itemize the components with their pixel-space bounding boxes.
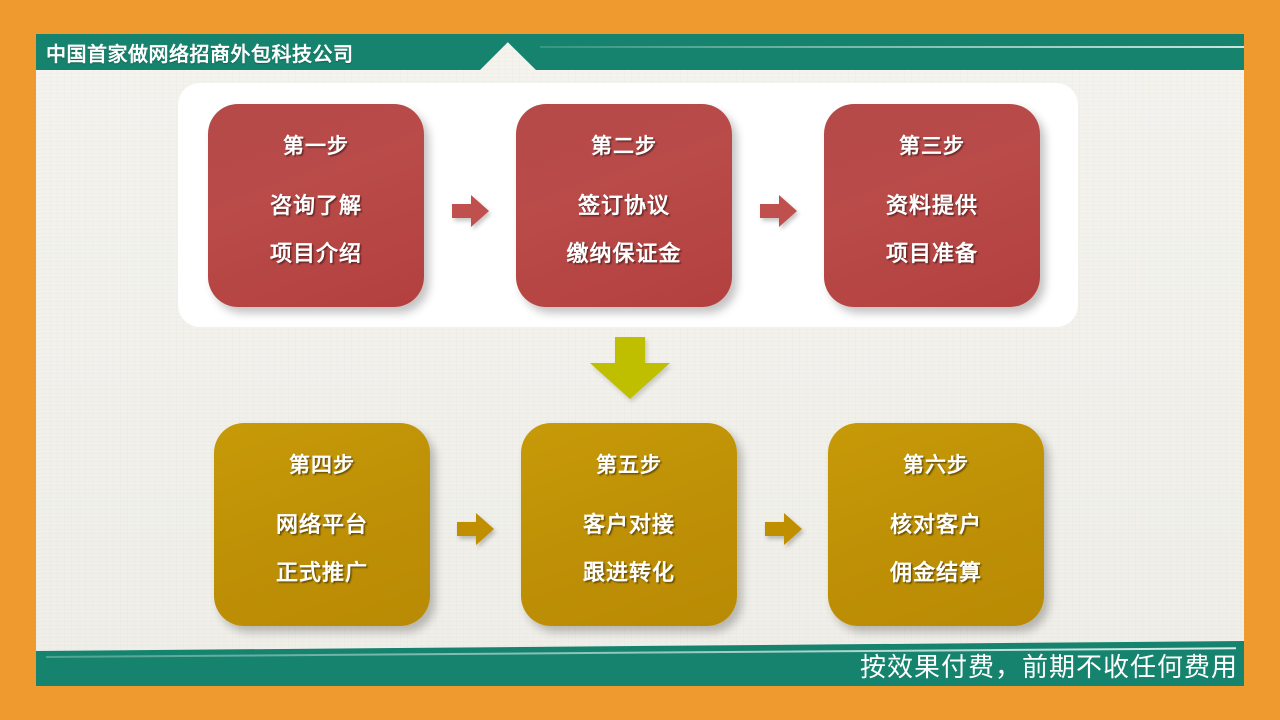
step-card-4[interactable]: 第四步 网络平台 正式推广: [214, 423, 430, 626]
step-card-3-line2: 项目准备: [886, 236, 978, 268]
slide-root: 中国首家做网络招商外包科技公司 第一步 咨询了解 项目介绍 第二步 签订协议 缴…: [0, 0, 1280, 720]
step-card-6-title: 第六步: [903, 449, 969, 479]
step-card-1-title: 第一步: [283, 130, 349, 160]
step-card-6-body: 核对客户 佣金结算: [890, 507, 982, 587]
arrow-right-icon: [765, 512, 803, 546]
step-card-2-title: 第二步: [591, 130, 657, 160]
step-card-4-line1: 网络平台: [276, 507, 368, 539]
step-card-2-line2: 缴纳保证金: [566, 236, 681, 268]
step-card-4-body: 网络平台 正式推广: [276, 507, 368, 587]
step-card-3[interactable]: 第三步 资料提供 项目准备: [824, 104, 1040, 307]
footer-note: 按效果付费，前期不收任何费用: [860, 646, 1238, 684]
step-card-1-line2: 项目介绍: [270, 236, 362, 268]
step-card-3-body: 资料提供 项目准备: [886, 188, 978, 268]
step-card-5-body: 客户对接 跟进转化: [583, 507, 675, 587]
step-card-6[interactable]: 第六步 核对客户 佣金结算: [828, 423, 1044, 626]
step-card-3-title: 第三步: [899, 130, 965, 160]
arrow-right-icon: [457, 512, 495, 546]
step-card-1-line1: 咨询了解: [270, 188, 362, 220]
step-card-5-line1: 客户对接: [583, 507, 675, 539]
step-card-1[interactable]: 第一步 咨询了解 项目介绍: [208, 104, 424, 307]
arrow-right-icon: [760, 194, 798, 228]
step-card-2-body: 签订协议 缴纳保证金: [566, 188, 681, 268]
arrow-right-icon: [452, 194, 490, 228]
page-title: 中国首家做网络招商外包科技公司: [46, 34, 354, 70]
step-card-5-line2: 跟进转化: [583, 555, 675, 587]
step-card-4-title: 第四步: [289, 449, 355, 479]
step-card-5[interactable]: 第五步 客户对接 跟进转化: [521, 423, 737, 626]
step-card-1-body: 咨询了解 项目介绍: [270, 188, 362, 268]
step-card-2-line1: 签订协议: [578, 188, 670, 220]
step-card-6-line2: 佣金结算: [890, 555, 982, 587]
step-card-5-title: 第五步: [596, 449, 662, 479]
arrow-down-icon: [588, 337, 672, 400]
step-card-3-line1: 资料提供: [886, 188, 978, 220]
header-hairline: [540, 46, 1244, 48]
step-card-6-line1: 核对客户: [890, 507, 982, 539]
step-card-4-line2: 正式推广: [276, 555, 368, 587]
step-card-2[interactable]: 第二步 签订协议 缴纳保证金: [516, 104, 732, 307]
